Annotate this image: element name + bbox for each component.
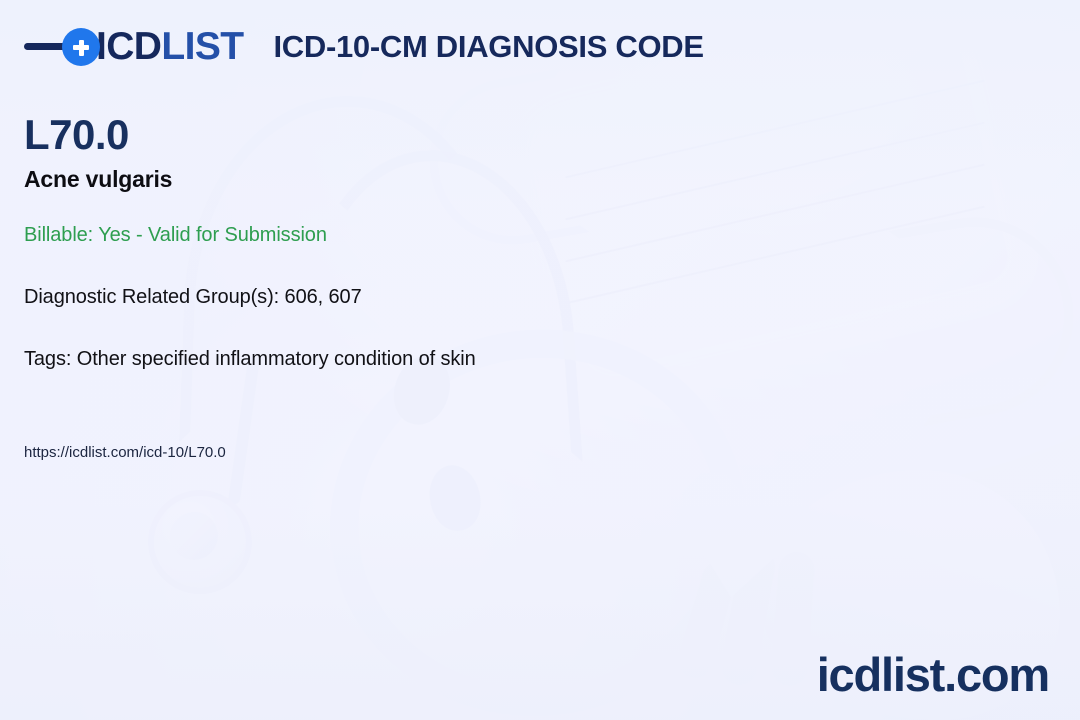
logo-word-list: LIST — [161, 25, 243, 68]
tags-line: Tags: Other specified inflammatory condi… — [24, 348, 476, 371]
diagnosis-code: L70.0 — [24, 113, 129, 157]
header: ICDLIST ICD-10-CM DIAGNOSIS CODE — [24, 27, 704, 66]
icdlist-logo[interactable]: ICDLIST — [24, 27, 243, 66]
page-title: ICD-10-CM DIAGNOSIS CODE — [273, 31, 703, 62]
billable-status: Billable: Yes - Valid for Submission — [24, 224, 327, 247]
footer-brand: icdlist.com — [817, 651, 1049, 698]
card-content: ICDLIST ICD-10-CM DIAGNOSIS CODE L70.0 A… — [0, 0, 1080, 720]
source-url[interactable]: https://icdlist.com/icd-10/L70.0 — [24, 444, 226, 461]
medical-plus-circle-icon — [62, 28, 100, 66]
diagnostic-related-groups: Diagnostic Related Group(s): 606, 607 — [24, 286, 362, 309]
icd-code-card: ICDLIST ICD-10-CM DIAGNOSIS CODE L70.0 A… — [0, 0, 1080, 720]
logo-word-icd: ICD — [96, 25, 161, 68]
diagnosis-description: Acne vulgaris — [24, 166, 172, 193]
logo-wordmark: ICDLIST — [96, 27, 243, 66]
